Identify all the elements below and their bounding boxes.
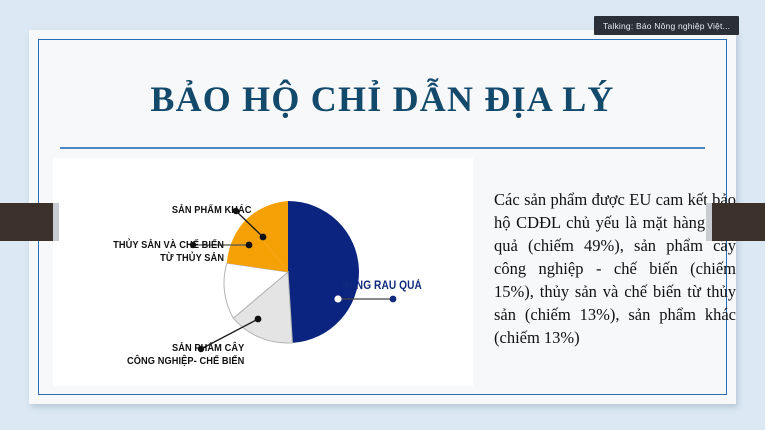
pie-label-hang-rau-qua: HÀNG RAU QUẢ [341, 280, 422, 293]
right-edge-tab [712, 203, 765, 241]
pie-label-thuy-san: THỦY SẢN VÀ CHẾ BIẾN TỪ THỦY SẢN [113, 239, 224, 265]
pie-chart-svg [53, 158, 473, 386]
pie-label-text-line1: SẢN PHẨM CÂY [127, 342, 244, 355]
pie-slice-hang-rau-qua [288, 201, 359, 343]
pie-label-text: HÀNG RAU QUẢ [341, 280, 422, 292]
pie-label-text: SẢN PHẨM KHÁC [172, 204, 252, 216]
right-edge-tab-clip [706, 203, 712, 241]
page-title: BẢO HỘ CHỈ DẪN ĐỊA LÝ [29, 78, 736, 120]
pie-label-san-pham-khac: SẢN PHẨM KHÁC [172, 204, 252, 217]
slide-viewer: Talking: Báo Nông nghiệp Việt... BẢO HỘ … [0, 0, 765, 430]
left-edge-tab-clip [53, 203, 59, 241]
body-paragraph: Các sản phẩm được EU cam kết bảo hộ CDĐL… [494, 188, 736, 349]
pie-label-text-line2: TỪ THỦY SẢN [113, 252, 224, 265]
left-edge-tab [0, 203, 53, 241]
pie-label-text-line1: THỦY SẢN VÀ CHẾ BIẾN [113, 239, 224, 252]
pie-chart-panel: SẢN PHẨM KHÁC THỦY SẢN VÀ CHẾ BIẾN TỪ TH… [53, 158, 473, 386]
talking-status-badge: Talking: Báo Nông nghiệp Việt... [594, 16, 739, 35]
title-divider [60, 147, 705, 149]
pie-label-san-pham-cay-cong-nghiep: SẢN PHẨM CÂY CÔNG NGHIỆP- CHẾ BIẾN [127, 342, 244, 368]
pie-chart: SẢN PHẨM KHÁC THỦY SẢN VÀ CHẾ BIẾN TỪ TH… [53, 158, 473, 386]
pie-label-text-line2: CÔNG NGHIỆP- CHẾ BIẾN [127, 355, 244, 368]
presentation-slide: BẢO HỘ CHỈ DẪN ĐỊA LÝ [29, 30, 736, 404]
